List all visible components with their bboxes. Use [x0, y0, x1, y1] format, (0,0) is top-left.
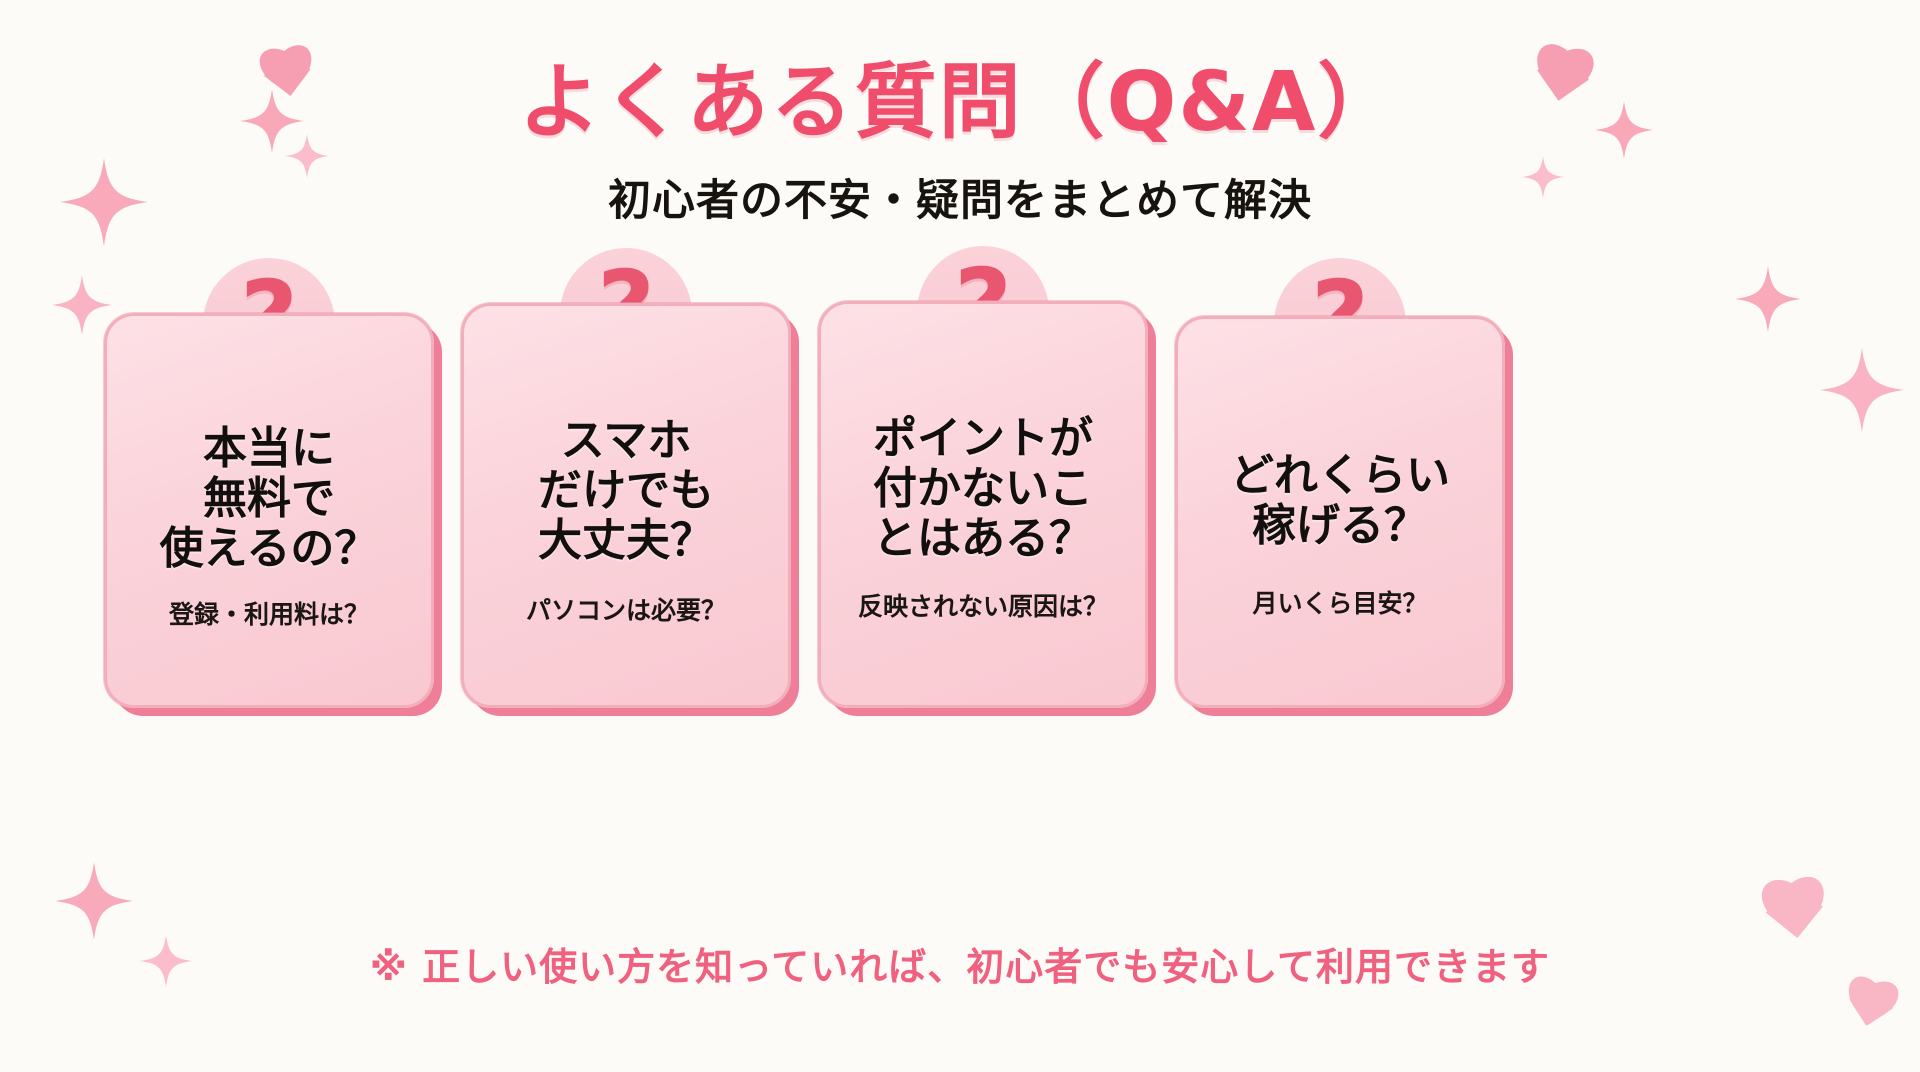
- sparkle-icon: [55, 855, 133, 947]
- faq-card-heading: どれくらい 稼げる？: [1230, 451, 1450, 551]
- faq-card[interactable]: ? 本当に 無料で 使えるの？ 登録・利用料は？: [104, 258, 434, 708]
- faq-card-body: ポイントが 付かないこ とはある？ 反映されない原因は？: [818, 301, 1148, 708]
- faq-card-body: どれくらい 稼げる？ 月いくら目安？: [1175, 316, 1505, 708]
- footer-note: ※ 正しい使い方を知っていれば、初心者でも安心して利用できます: [0, 945, 1920, 991]
- faq-card[interactable]: ? ポイントが 付かないこ とはある？ 反映されない原因は？: [818, 246, 1148, 708]
- heart-icon: [1751, 876, 1838, 956]
- faq-card-caption: 反映されない原因は？: [858, 592, 1108, 622]
- faq-card-heading: ポイントが 付かないこ とはある？: [873, 414, 1093, 564]
- faq-card-caption: 月いくら目安？: [1252, 589, 1427, 619]
- faq-card-heading: スマホ だけでも 大丈夫？: [538, 416, 714, 566]
- faq-card[interactable]: ? どれくらい 稼げる？ 月いくら目安？: [1175, 258, 1505, 708]
- faq-card-row: ? 本当に 無料で 使えるの？ 登録・利用料は？ ? スマホ だけでも 大丈夫？…: [0, 258, 1920, 728]
- page-subtitle: 初心者の不安・疑問をまとめて解決: [0, 176, 1920, 228]
- faq-card-body: 本当に 無料で 使えるの？ 登録・利用料は？: [104, 313, 434, 708]
- faq-card-heading: 本当に 無料で 使えるの？: [160, 424, 379, 574]
- faq-card[interactable]: ? スマホ だけでも 大丈夫？ パソコンは必要？: [461, 248, 791, 708]
- faq-card-body: スマホ だけでも 大丈夫？ パソコンは必要？: [461, 303, 791, 708]
- poster-canvas: よくある質問（Q&A） 初心者の不安・疑問をまとめて解決 ? 本当に 無料で 使…: [0, 0, 1920, 1072]
- faq-card-caption: 登録・利用料は？: [169, 600, 369, 630]
- page-title: よくある質問（Q&A）: [0, 58, 1920, 148]
- faq-card-caption: パソコンは必要？: [526, 596, 726, 626]
